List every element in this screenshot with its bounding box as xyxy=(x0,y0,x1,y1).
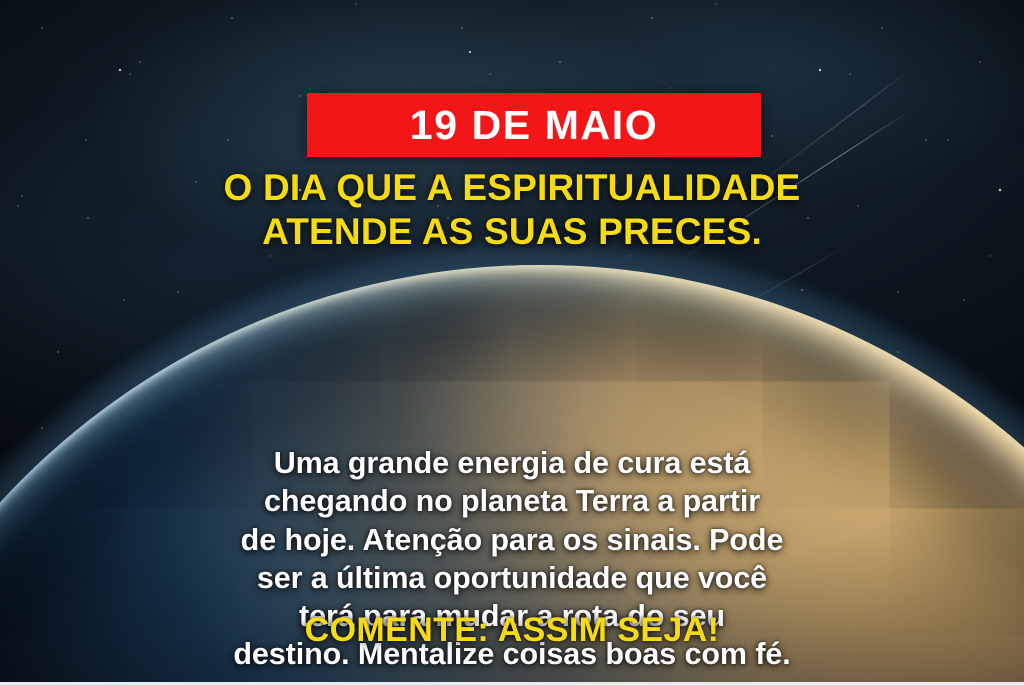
poster-content: 19 DE MAIO O DIA QUE A ESPIRITUALIDADE A… xyxy=(0,0,1024,685)
poster-root: 19 DE MAIO O DIA QUE A ESPIRITUALIDADE A… xyxy=(0,0,1024,685)
body-line-4: ser a última oportunidade que você xyxy=(56,559,968,597)
headline: O DIA QUE A ESPIRITUALIDADE ATENDE AS SU… xyxy=(0,166,1024,253)
body-line-3: de hoje. Atenção para os sinais. Pode xyxy=(56,521,968,559)
headline-line-1: O DIA QUE A ESPIRITUALIDADE xyxy=(52,166,972,210)
call-to-action-label: COMENTE: ASSIM SEJA! xyxy=(0,613,1024,649)
date-banner-label: 19 DE MAIO xyxy=(410,105,658,146)
body-line-2: chegando no planeta Terra a partir xyxy=(56,482,968,520)
headline-line-2: ATENDE AS SUAS PRECES. xyxy=(52,210,972,254)
body-line-1: Uma grande energia de cura está xyxy=(56,444,968,482)
date-banner: 19 DE MAIO xyxy=(307,93,761,157)
